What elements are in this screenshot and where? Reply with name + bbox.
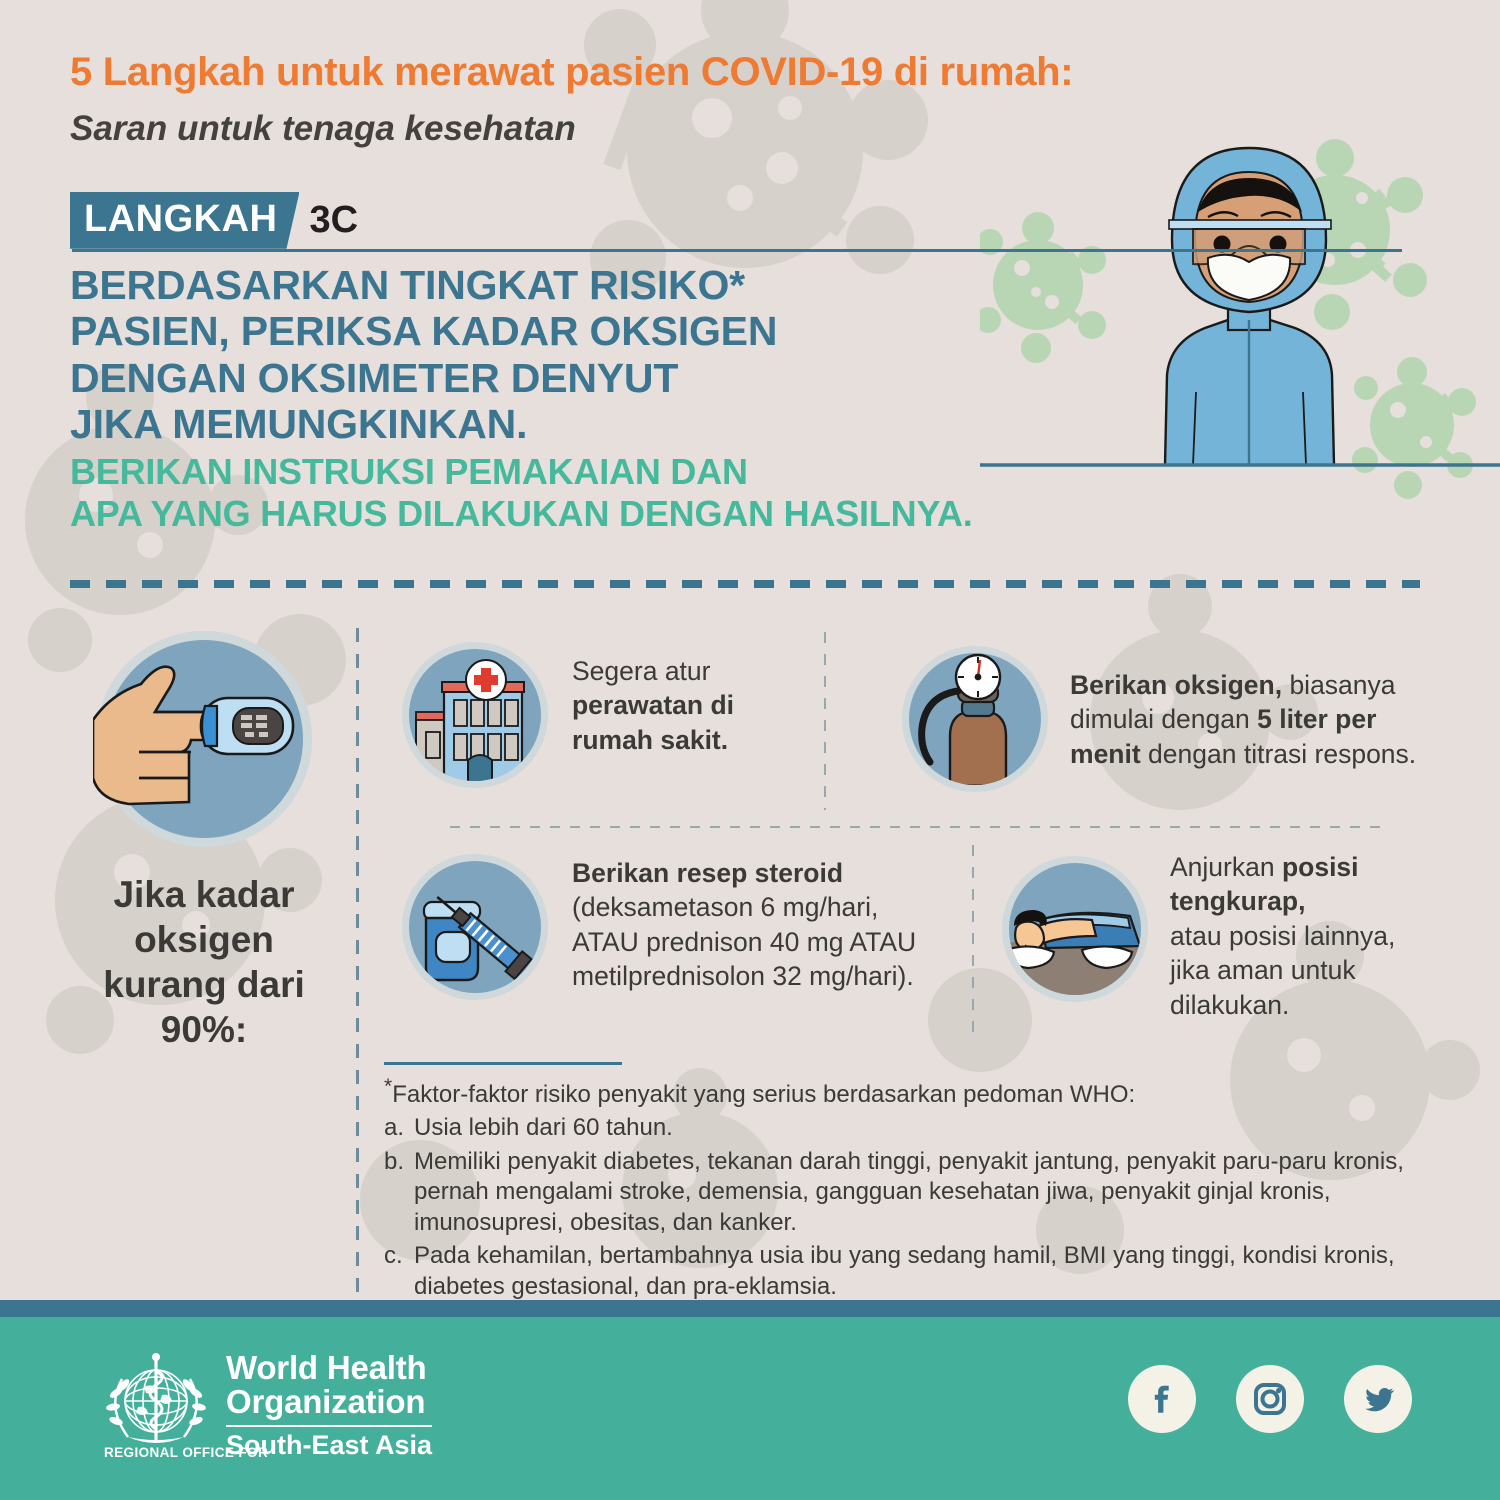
footnote-title: *Faktor-faktor risiko penyakit yang seri… [384,1074,1444,1110]
headline-green-line-1: BERIKAN INSTRUKSI PEMAKAIAN DAN [70,451,1030,493]
step-code: 3C [309,199,358,243]
headline-green-line-2: APA YANG HARUS DILAKUKAN DENGAN HASILNYA… [70,493,1030,535]
footnote-item-marker: b. [384,1147,414,1238]
footnote-asterisk: * [384,1075,392,1098]
oxygen-caption-line-1: Jika kadar [103,872,305,917]
horizontal-divider-cards [450,826,1385,828]
header: 5 Langkah untuk merawat pasien COVID-19 … [70,50,1420,149]
oxygen-caption-line-2: oksigen [103,917,305,962]
pulse-oximeter-on-finger-icon [93,628,315,850]
page-title: 5 Langkah untuk merawat pasien COVID-19 … [70,50,1420,94]
footnote-item: a.Usia lebih dari 60 tahun. [384,1113,1444,1143]
oxygen-cylinder-icon [900,644,1050,794]
social-links [1128,1365,1412,1433]
card-steroid: Berikan resep steroid(deksametason 6 mg/… [400,852,960,1002]
step-badge-label: LANGKAH [70,192,299,249]
footnote-item: b.Memiliki penyakit diabetes, tekanan da… [384,1147,1444,1238]
who-wordmark: World Health Organization South-East Asi… [226,1351,432,1459]
facebook-icon[interactable] [1128,1365,1196,1433]
who-line1: World Health [226,1351,432,1385]
who-divider [226,1425,432,1427]
headline-line-3: DENGAN OKSIMETER DENYUT [70,355,1030,401]
oxygen-threshold-column: Jika kadaroksigenkurang dari90%: [68,628,340,1053]
vertical-divider-row2 [972,845,974,1041]
headline-green-lines: BERIKAN INSTRUKSI PEMAKAIAN DANAPA YANG … [70,451,1030,535]
card-hospital-text: Segera aturperawatan dirumah sakit. [572,654,734,757]
headline-line-2: PASIEN, PERIKSA KADAR OKSIGEN [70,308,1030,354]
footnote-item-marker: a. [384,1113,414,1143]
infographic-page: 5 Langkah untuk merawat pasien COVID-19 … [0,0,1500,1500]
hospital-building-icon [400,640,550,790]
health-worker-illustration [980,120,1500,520]
instagram-icon[interactable] [1236,1365,1304,1433]
headline-line-4: JIKA MEMUNGKINKAN. [70,401,1030,447]
who-logo: World Health Organization South-East Asi… [100,1330,432,1480]
oxygen-caption-line-4: 90%: [103,1007,305,1052]
headline-line-1: BERDASARKAN TINGKAT RISIKO* [70,262,1030,308]
card-oxygen: Berikan oksigen, biasanyadimulai dengan … [900,640,1440,794]
prone-position-patient-icon [1000,854,1150,1004]
vertical-divider-main [356,628,359,1300]
card-steroid-text: Berikan resep steroid(deksametason 6 mg/… [572,856,916,994]
vertical-divider-row1 [824,632,826,810]
oxygen-threshold-caption: Jika kadaroksigenkurang dari90%: [103,872,305,1053]
footnote-item: c.Pada kehamilan, bertambahnya usia ibu … [384,1241,1444,1302]
footnote-block: *Faktor-faktor risiko penyakit yang seri… [384,1062,1444,1336]
footnote-item-text: Usia lebih dari 60 tahun. [414,1113,1444,1143]
footer-accent-strip [0,1300,1500,1317]
who-regional-label: REGIONAL OFFICE FOR [104,1445,268,1460]
footnote-rule [384,1062,622,1065]
card-prone: Anjurkan posisitengkurap,atau posisi lai… [1000,850,1450,1022]
who-line2: Organization [226,1385,432,1419]
twitter-icon[interactable] [1344,1365,1412,1433]
step-rule-divider [72,249,1402,252]
footnote-item-text: Pada kehamilan, bertambahnya usia ibu ya… [414,1241,1444,1302]
step-badge-row: LANGKAH 3C [70,192,358,249]
oxygen-caption-line-3: kurang dari [103,962,305,1007]
card-oxygen-text: Berikan oksigen, biasanyadimulai dengan … [1070,668,1416,771]
vial-and-syringe-icon [400,852,550,1002]
headline-dark-lines: BERDASARKAN TINGKAT RISIKO*PASIEN, PERIK… [70,262,1030,447]
footnote-item-marker: c. [384,1241,414,1302]
card-hospital: Segera aturperawatan dirumah sakit. [400,640,800,790]
card-prone-text: Anjurkan posisitengkurap,atau posisi lai… [1170,850,1395,1022]
headline-dashed-divider [70,580,1420,588]
headline-block: BERDASARKAN TINGKAT RISIKO*PASIEN, PERIK… [70,262,1030,535]
footnote-item-text: Memiliki penyakit diabetes, tekanan dara… [414,1147,1444,1238]
page-subtitle: Saran untuk tenaga kesehatan [70,110,1420,149]
